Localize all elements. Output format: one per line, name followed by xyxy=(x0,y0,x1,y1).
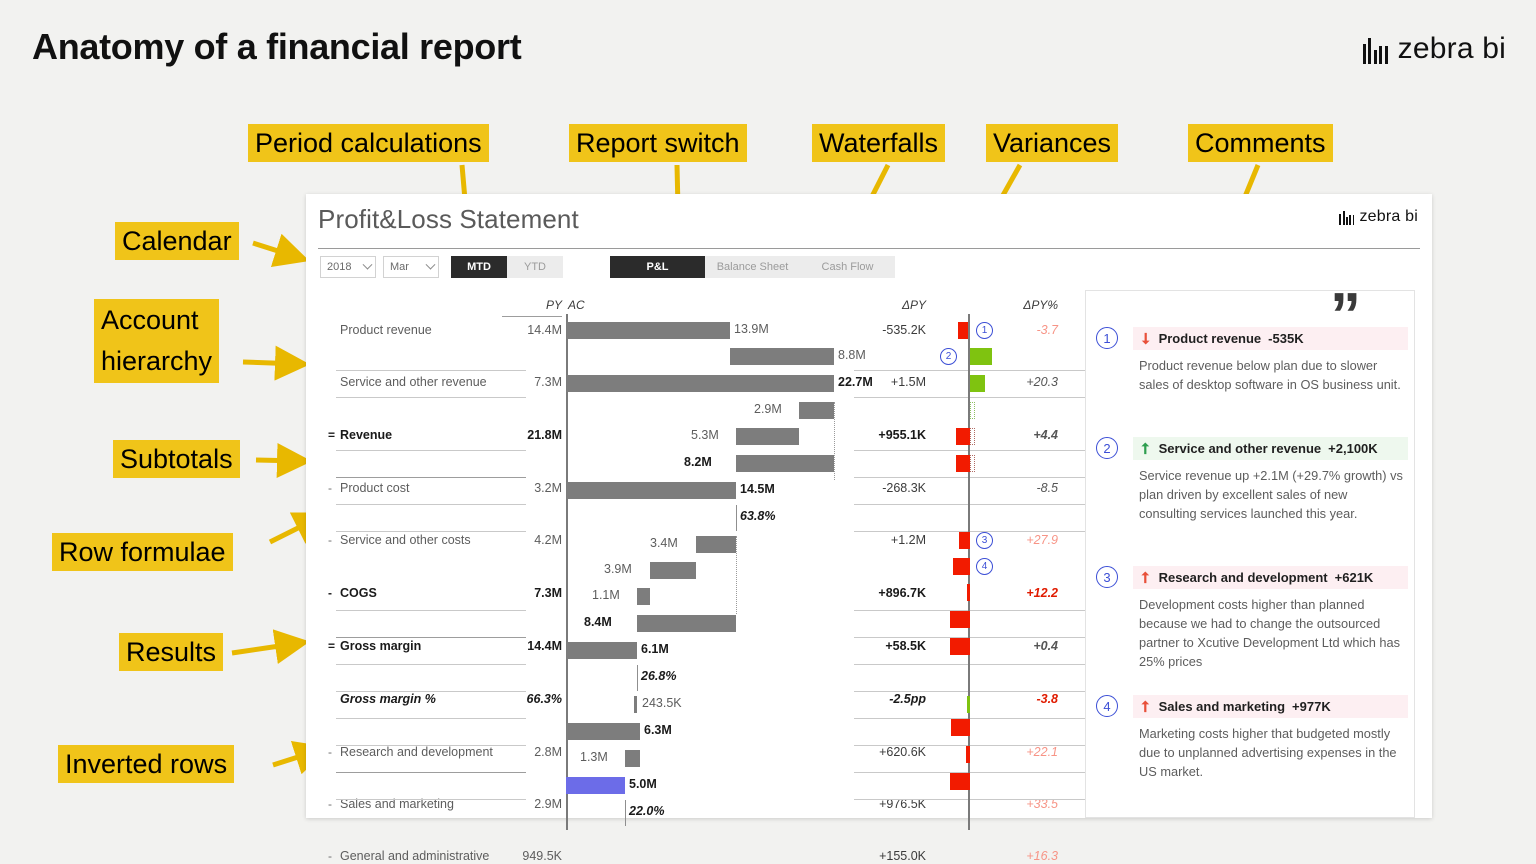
waterfall-value: 26.8% xyxy=(641,669,676,683)
comment-heading: ➞ Service and other revenue +2,100K xyxy=(1133,437,1408,460)
column-header-dpy: ΔPY xyxy=(856,298,926,312)
report-controls: 2018 Mar MTD YTD P&L Balance Sheet Cash … xyxy=(320,256,895,278)
year-dropdown[interactable]: 2018 xyxy=(320,256,376,278)
row-sign: = xyxy=(328,639,338,653)
waterfall-value: 5.0M xyxy=(629,777,657,791)
row-dpy: +620.6K xyxy=(854,745,926,759)
waterfall-connector xyxy=(736,505,737,531)
waterfall-value: 1.3M xyxy=(580,750,608,764)
row-dpy: -535.2K xyxy=(854,323,926,337)
waterfall-chart: 13.9M 8.8M 22.7M 2.9M 5.3M 8. xyxy=(566,318,846,812)
waterfall-bar xyxy=(637,615,736,632)
waterfall-value: 243.5K xyxy=(642,696,682,710)
callout-calendar: Calendar xyxy=(115,222,239,260)
waterfall-connector xyxy=(637,665,638,691)
variance-bar xyxy=(956,428,970,445)
row-label: Service and other revenue xyxy=(340,375,487,389)
waterfall-bar xyxy=(566,723,640,740)
row-sign: - xyxy=(328,533,338,547)
comment-item[interactable]: 2 ➞ Service and other revenue +2,100K Se… xyxy=(1096,437,1408,523)
variance-bar xyxy=(970,375,985,392)
waterfall-bar xyxy=(637,588,650,605)
waterfall-value: 2.9M xyxy=(754,402,782,416)
row-label: Revenue xyxy=(340,428,392,442)
comment-value: +977K xyxy=(1292,699,1331,714)
row-dpy: -268.3K xyxy=(854,481,926,495)
row-py: 4.2M xyxy=(502,533,562,547)
comment-body: Marketing costs higher that budgeted mos… xyxy=(1139,724,1408,781)
comment-item[interactable]: 4 ➞ Sales and marketing +977K Marketing … xyxy=(1096,695,1408,781)
month-dropdown[interactable]: Mar xyxy=(383,256,439,278)
row-py: 7.3M xyxy=(502,375,562,389)
waterfall-bar xyxy=(730,348,834,365)
waterfall-bar xyxy=(799,402,834,419)
comment-value: +621K xyxy=(1335,570,1374,585)
zebra-mark-icon-small xyxy=(1339,209,1354,225)
row-py: 14.4M xyxy=(502,323,562,337)
comment-heading: ➞ Sales and marketing +977K xyxy=(1133,695,1408,718)
arrow-down-icon: ➞ xyxy=(1138,332,1153,345)
arrow-up-icon: ➞ xyxy=(1138,442,1153,455)
waterfall-value: 1.1M xyxy=(592,588,620,602)
header-divider xyxy=(318,248,1420,249)
waterfall-bar xyxy=(650,562,696,579)
waterfall-bar xyxy=(634,696,637,713)
row-label: General and administrative xyxy=(340,849,489,863)
marker-number: 4 xyxy=(982,561,988,572)
waterfall-value: 13.9M xyxy=(734,322,769,336)
comment-body: Service revenue up +2.1M (+29.7% growth)… xyxy=(1139,466,1408,523)
row-dpyp: +16.3 xyxy=(994,849,1058,863)
month-value: Mar xyxy=(390,261,409,273)
row-sign: - xyxy=(328,586,338,600)
column-header-ac: AC xyxy=(568,298,585,312)
row-dpy: +58.5K xyxy=(854,639,926,653)
comment-heading: ➞ Research and development +621K xyxy=(1133,566,1408,589)
comment-title: Research and development xyxy=(1159,570,1328,585)
page-title: Anatomy of a financial report xyxy=(32,26,521,68)
row-dpy: +1.2M xyxy=(854,533,926,547)
row-sign: = xyxy=(328,428,338,442)
marker-number: 1 xyxy=(982,325,988,336)
comment-body: Product revenue below plan due to slower… xyxy=(1139,356,1408,394)
report-option-balance-sheet[interactable]: Balance Sheet xyxy=(705,256,800,278)
row-dpy: -2.5pp xyxy=(854,692,926,706)
comment-item[interactable]: 3 ➞ Research and development +621K Devel… xyxy=(1096,566,1408,671)
comment-body: Development costs higher than planned be… xyxy=(1139,595,1408,671)
report-zebra-bi-logo: zebra bi xyxy=(1339,208,1418,226)
waterfall-connector xyxy=(625,800,626,826)
waterfall-value: 22.0% xyxy=(629,804,664,818)
callout-subtotals: Subtotals xyxy=(113,440,240,478)
report-switch[interactable]: P&L Balance Sheet Cash Flow xyxy=(610,256,895,278)
table-row[interactable]: - General and administrative 949.5K +155… xyxy=(306,844,1432,864)
waterfall-value: 8.8M xyxy=(838,348,866,362)
variance-bar xyxy=(967,696,970,713)
marker-number: 2 xyxy=(946,351,952,362)
zebra-bi-logo: zebra bi xyxy=(1363,32,1506,66)
variance-bar xyxy=(970,402,975,419)
variance-bar xyxy=(967,584,970,601)
waterfall-value: 63.8% xyxy=(740,509,775,523)
comment-item[interactable]: 1 ➞ Product revenue -535K Product revenu… xyxy=(1096,327,1408,394)
chevron-down-icon xyxy=(363,259,373,269)
variance-bar xyxy=(970,455,975,472)
callout-row-formulae: Row formulae xyxy=(52,533,233,571)
waterfall-bar xyxy=(736,455,834,472)
waterfall-bar xyxy=(625,750,640,767)
row-label: Product cost xyxy=(340,481,409,495)
variance-bar xyxy=(970,428,975,445)
row-py: 66.3% xyxy=(502,692,562,706)
waterfall-bar xyxy=(566,642,637,659)
comment-marker-2[interactable]: 2 xyxy=(940,348,957,365)
variance-bar xyxy=(950,773,970,790)
chevron-down-icon xyxy=(426,259,436,269)
variance-bar xyxy=(966,746,970,763)
comment-marker-1[interactable]: 1 xyxy=(976,322,993,339)
arrow-up-icon: ➞ xyxy=(1138,571,1153,584)
variance-bar xyxy=(950,638,970,655)
row-py: 3.2M xyxy=(502,481,562,495)
waterfall-bar xyxy=(736,428,799,445)
comment-title: Service and other revenue xyxy=(1159,441,1322,456)
callout-inverted-rows: Inverted rows xyxy=(58,745,234,783)
report-option-cash-flow[interactable]: Cash Flow xyxy=(800,256,895,278)
period-option-mtd[interactable]: MTD xyxy=(451,256,507,278)
waterfall-connector xyxy=(834,402,835,480)
waterfall-bar xyxy=(566,322,730,339)
variance-bar xyxy=(950,611,970,628)
variance-chart: 1 2 3 4 xyxy=(948,318,1008,812)
row-sign: - xyxy=(328,745,338,759)
variance-bar xyxy=(970,348,992,365)
column-header-py: PY xyxy=(506,298,562,312)
report-title: Profit&Loss Statement xyxy=(318,204,579,235)
row-py: 7.3M xyxy=(502,586,562,600)
row-label: Research and development xyxy=(340,745,493,759)
slide-canvas: Anatomy of a financial report zebra bi xyxy=(0,0,1536,864)
row-label: Gross margin % xyxy=(340,692,436,706)
comment-value: +2,100K xyxy=(1328,441,1378,456)
waterfall-value: 22.7M xyxy=(838,375,873,389)
callout-waterfalls: Waterfalls xyxy=(812,124,945,162)
waterfall-bar xyxy=(566,482,736,499)
marker-number: 3 xyxy=(982,535,988,546)
row-py: 14.4M xyxy=(502,639,562,653)
row-dpy: +955.1K xyxy=(854,428,926,442)
variance-bar xyxy=(958,322,968,339)
report-brand-name: zebra bi xyxy=(1359,208,1418,226)
comment-marker-4[interactable]: 4 xyxy=(976,558,993,575)
variance-bar xyxy=(956,455,970,472)
column-header-dpyp: ΔPY% xyxy=(996,298,1058,312)
variance-bar xyxy=(951,719,970,736)
callout-variances: Variances xyxy=(986,124,1118,162)
comment-number: 2 xyxy=(1096,437,1118,459)
comment-value: -535K xyxy=(1268,331,1303,346)
comment-number: 3 xyxy=(1096,566,1118,588)
arrow-up-icon: ➞ xyxy=(1138,700,1153,713)
waterfall-value: 6.1M xyxy=(641,642,669,656)
comment-marker-3[interactable]: 3 xyxy=(976,532,993,549)
row-dpy: +896.7K xyxy=(854,586,926,600)
waterfall-value: 14.5M xyxy=(740,482,775,496)
report-option-pl[interactable]: P&L xyxy=(610,256,705,278)
row-py: 949.5K xyxy=(502,849,562,863)
row-label: Gross margin xyxy=(340,639,421,653)
row-py: 21.8M xyxy=(502,428,562,442)
callout-period-calculations: Period calculations xyxy=(248,124,489,162)
row-sign: - xyxy=(328,481,338,495)
comment-number: 4 xyxy=(1096,695,1118,717)
variance-bar xyxy=(959,532,970,549)
comment-number: 1 xyxy=(1096,327,1118,349)
brand-name: zebra bi xyxy=(1398,32,1506,66)
period-option-ytd[interactable]: YTD xyxy=(507,256,563,278)
waterfall-value: 3.9M xyxy=(604,562,632,576)
waterfall-value: 8.2M xyxy=(684,455,712,469)
callout-results: Results xyxy=(119,633,223,671)
waterfall-value: 6.3M xyxy=(644,723,672,737)
row-sign: - xyxy=(328,849,338,863)
callout-report-switch: Report switch xyxy=(569,124,747,162)
row-py: 2.8M xyxy=(502,745,562,759)
year-value: 2018 xyxy=(327,261,351,273)
waterfall-value: 8.4M xyxy=(584,615,612,629)
callout-comments: Comments xyxy=(1188,124,1333,162)
row-label: Service and other costs xyxy=(340,533,471,547)
comment-heading: ➞ Product revenue -535K xyxy=(1133,327,1408,350)
waterfall-bar xyxy=(696,536,736,553)
comment-title: Product revenue xyxy=(1159,331,1262,346)
variance-bar xyxy=(953,558,970,575)
row-label: Product revenue xyxy=(340,323,432,337)
waterfall-value: 3.4M xyxy=(650,536,678,550)
callout-account-hierarchy: Account hierarchy xyxy=(94,299,219,383)
waterfall-bar-inverted xyxy=(566,777,625,794)
waterfall-connector xyxy=(736,536,737,614)
zebra-mark-icon xyxy=(1363,34,1388,64)
period-switch[interactable]: MTD YTD xyxy=(451,256,563,278)
row-dpy: +155.0K xyxy=(854,849,926,863)
comment-title: Sales and marketing xyxy=(1159,699,1285,714)
waterfall-value: 5.3M xyxy=(691,428,719,442)
row-label: COGS xyxy=(340,586,377,600)
waterfall-bar xyxy=(566,375,834,392)
comments-panel: ” 1 ➞ Product revenue -535K Product reve… xyxy=(1085,290,1415,818)
